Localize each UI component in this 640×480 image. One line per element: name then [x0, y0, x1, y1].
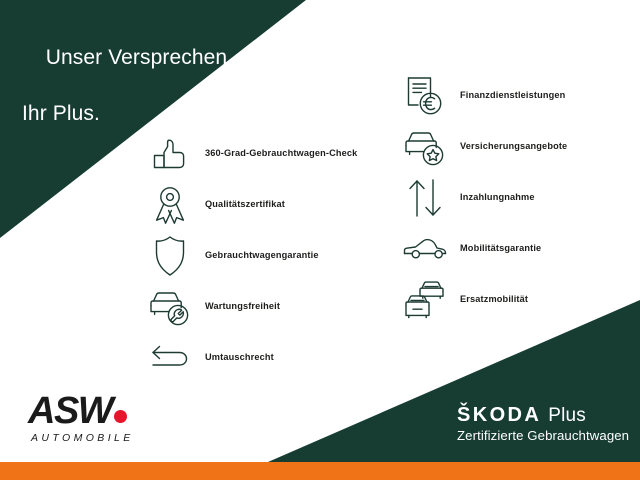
asw-red-dot-icon: [114, 410, 127, 423]
feature-label: Finanzdienstleistungen: [460, 90, 565, 100]
feature-item: Mobilitätsgarantie: [400, 223, 640, 274]
skoda-tagline: Zertifizierte Gebrauchtwagen: [457, 428, 629, 443]
feature-item: Finanzdienstleistungen: [400, 70, 640, 121]
skoda-plus-label: Plus: [548, 406, 586, 425]
skoda-wordmark: ŠKODA: [457, 405, 541, 425]
asw-subtitle: AUTOMOBILE: [31, 432, 178, 444]
promo-banner: Unser Versprechen. Ihr Plus. 360-Grad-Ge…: [0, 0, 640, 480]
asw-logo: ASW AUTOMOBILE: [28, 392, 178, 444]
feature-label: 360-Grad-Gebrauchtwagen-Check: [205, 148, 357, 158]
feature-item: Wartungsfreiheit: [145, 281, 385, 332]
return-arrow-icon: [145, 336, 195, 380]
thumbs-up-icon: [145, 132, 195, 176]
feature-label: Wartungsfreiheit: [205, 301, 280, 311]
feature-item: Versicherungsangebote: [400, 121, 640, 172]
feature-list-right: FinanzdienstleistungenVersicherungsangeb…: [400, 70, 640, 325]
feature-label: Inzahlungnahme: [460, 192, 535, 202]
feature-label: Ersatzmobilität: [460, 294, 528, 304]
feature-item: Umtauschrecht: [145, 332, 385, 383]
up-down-arrows-icon: [400, 176, 450, 220]
car-side-icon: [400, 227, 450, 271]
feature-item: Inzahlungnahme: [400, 172, 640, 223]
feature-label: Umtauschrecht: [205, 352, 274, 362]
headline-line-2: Ihr Plus.: [22, 100, 233, 128]
asw-wordmark: ASW: [28, 392, 178, 430]
feature-list-left: 360-Grad-Gebrauchtwagen-CheckQualitätsze…: [145, 128, 385, 383]
feature-item: Qualitätszertifikat: [145, 179, 385, 230]
headline-line-1: Unser Versprechen.: [46, 46, 233, 69]
skoda-logo-line: ŠKODA Plus: [457, 405, 629, 425]
orange-accent-bar: [0, 462, 640, 480]
award-rosette-icon: [145, 183, 195, 227]
shield-icon: [145, 234, 195, 278]
document-euro-icon: [400, 74, 450, 118]
feature-item: 360-Grad-Gebrauchtwagen-Check: [145, 128, 385, 179]
skoda-plus-logo: ŠKODA Plus Zertifizierte Gebrauchtwagen: [457, 405, 629, 443]
asw-wordmark-text: ASW: [28, 392, 112, 430]
car-star-icon: [400, 125, 450, 169]
feature-label: Versicherungsangebote: [460, 141, 567, 151]
car-wrench-icon: [145, 285, 195, 329]
feature-item: Gebrauchtwagengarantie: [145, 230, 385, 281]
feature-label: Mobilitätsgarantie: [460, 243, 541, 253]
feature-item: Ersatzmobilität: [400, 274, 640, 325]
two-cars-icon: [400, 278, 450, 322]
feature-label: Gebrauchtwagengarantie: [205, 250, 319, 260]
feature-label: Qualitätszertifikat: [205, 199, 285, 209]
